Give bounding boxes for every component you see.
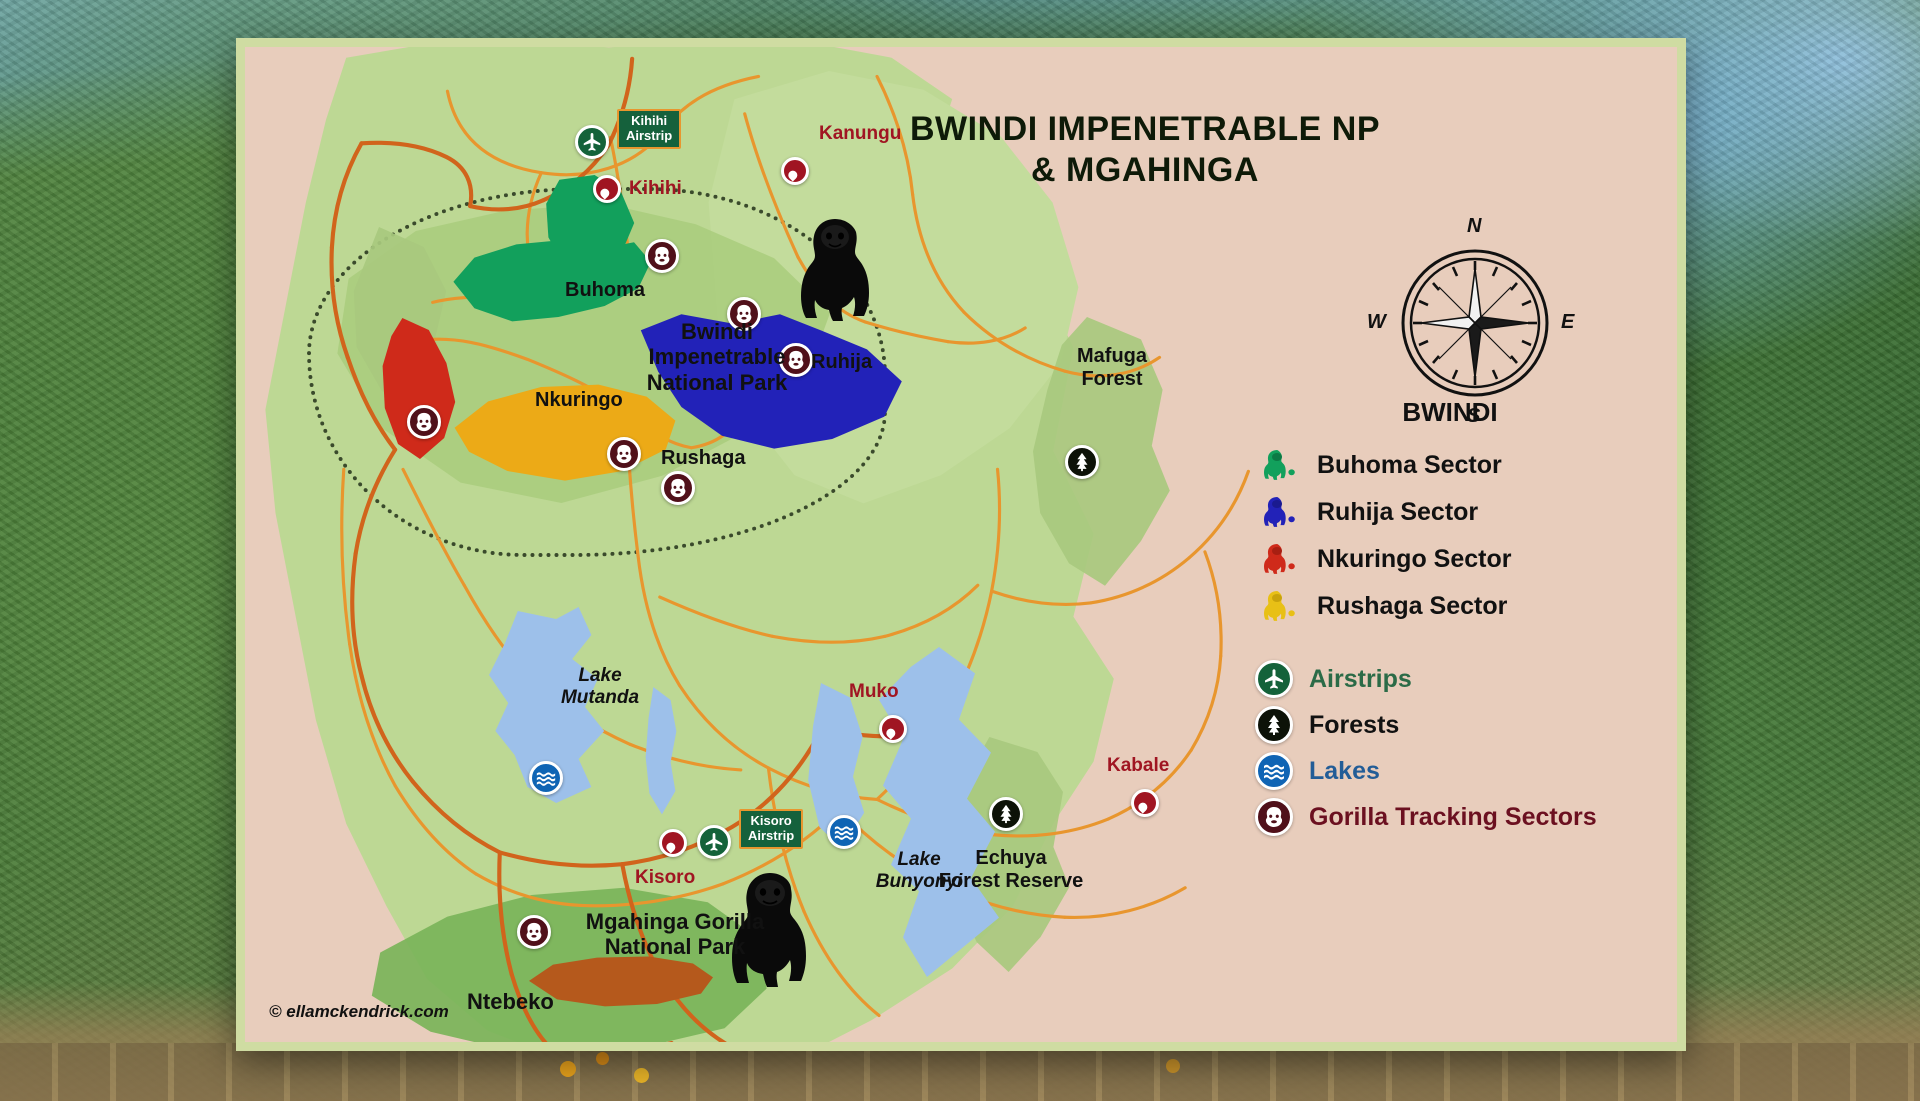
airplane-icon <box>703 831 725 853</box>
lake-label-mutanda: Lake Mutanda <box>545 665 655 709</box>
map-title-line1: BWINDI IMPENETRABLE NP <box>910 110 1380 148</box>
gorilla-head-icon <box>651 245 673 267</box>
gorilla-icon <box>1255 448 1301 484</box>
town-marker-kabale[interactable] <box>1131 789 1159 817</box>
gorilla-head-icon <box>413 411 435 433</box>
gorilla-head-icon <box>613 443 635 465</box>
gorilla-tracking-marker-rushaga-west[interactable] <box>607 437 641 471</box>
legend-label-gorilla-tracking-sectors: Gorilla Tracking Sectors <box>1309 803 1597 832</box>
park-label-line1: Mgahinga Gorilla <box>586 909 764 934</box>
town-marker-muko[interactable] <box>879 715 907 743</box>
town-label-muko: Muko <box>849 681 899 703</box>
town-label-kihihi: Kihihi <box>629 178 682 200</box>
airstrip-label-kihihi: Kihihi Airstrip <box>617 109 681 149</box>
airstrip-marker-kihihi[interactable] <box>575 125 609 159</box>
map-legend: BWINDI Buhoma Sector Ruhija Sector Nkuri… <box>1255 397 1675 840</box>
airplane-icon <box>581 131 603 153</box>
waves-icon <box>535 767 557 789</box>
airstrip-marker-kisoro[interactable] <box>697 825 731 859</box>
legend-item-buhoma-sector[interactable]: Buhoma Sector <box>1255 442 1675 489</box>
map-canvas: Kihihi Airstrip Kisoro Airstrip Kihihi K… <box>245 47 1677 1042</box>
map-title-line2: & MGAHINGA <box>1031 151 1259 189</box>
decorative-flower <box>634 1068 649 1083</box>
map-title: BWINDI IMPENETRABLE NP & MGAHINGA <box>885 109 1405 192</box>
park-label-line2: Impenetrable <box>649 344 786 369</box>
compass-rose: N S W E <box>1395 243 1555 403</box>
map-card: Kihihi Airstrip Kisoro Airstrip Kihihi K… <box>236 38 1686 1051</box>
airstrip-label-line1: Kihihi <box>631 113 667 128</box>
forest-marker-echuya[interactable] <box>989 797 1023 831</box>
legend-label-lakes: Lakes <box>1309 757 1380 786</box>
park-label-bwindi: Bwindi Impenetrable National Park <box>607 319 827 395</box>
town-marker-kihihi[interactable] <box>593 175 621 203</box>
airstrip-label-line1: Kisoro <box>751 813 792 828</box>
legend-item-forests[interactable]: Forests <box>1255 702 1675 748</box>
legend-label-ruhija-sector: Ruhija Sector <box>1317 498 1478 527</box>
legend-label-forests: Forests <box>1309 711 1399 740</box>
forest-label-line1: Mafuga <box>1077 345 1147 367</box>
lake-label-line1: Lake <box>897 849 940 870</box>
forest-label-line1: Echuya <box>975 847 1046 869</box>
legend-item-gorilla-tracking-sectors[interactable]: Gorilla Tracking Sectors <box>1255 794 1675 840</box>
town-label-kabale: Kabale <box>1107 755 1169 777</box>
compass-label-north: N <box>1467 215 1481 238</box>
forest-label-mafuga: Mafuga Forest <box>1057 345 1167 391</box>
gorilla-illustration-north <box>785 215 885 323</box>
sector-label-ntebeko: Ntebeko <box>467 989 554 1014</box>
decorative-flower <box>560 1061 576 1077</box>
legend-label-buhoma-sector: Buhoma Sector <box>1317 451 1502 480</box>
legend-item-rushaga-sector[interactable]: Rushaga Sector <box>1255 583 1675 630</box>
gorilla-icon <box>1255 542 1301 578</box>
gorilla-tracking-marker-nkuringo[interactable] <box>407 405 441 439</box>
legend-heading: BWINDI <box>1225 397 1675 428</box>
compass-icon <box>1395 243 1555 403</box>
lake-marker-bunyonyi[interactable] <box>827 815 861 849</box>
tree-icon <box>995 803 1017 825</box>
tree-icon <box>1255 706 1293 744</box>
legend-item-nkuringo-sector[interactable]: Nkuringo Sector <box>1255 536 1675 583</box>
decorative-flower <box>1166 1059 1180 1073</box>
park-label-line3: National Park <box>647 370 788 395</box>
compass-label-west: W <box>1367 311 1386 334</box>
legend-feature-group: Airstrips Forests Lakes Gorilla Tracking… <box>1255 656 1675 840</box>
sector-label-buhoma: Buhoma <box>565 279 645 302</box>
legend-label-airstrips: Airstrips <box>1309 665 1412 694</box>
gorilla-icon <box>1255 589 1301 625</box>
park-label-line1: Bwindi <box>681 319 753 344</box>
tree-icon <box>1071 451 1093 473</box>
lake-label-bunyonyi: Lake Bunyonyi <box>859 849 979 893</box>
sector-label-rushaga: Rushaga <box>661 447 745 470</box>
legend-item-lakes[interactable]: Lakes <box>1255 748 1675 794</box>
forest-marker-mafuga[interactable] <box>1065 445 1099 479</box>
waves-icon <box>833 821 855 843</box>
forest-label-line2: Forest <box>1081 368 1142 390</box>
gorilla-head-icon <box>1255 798 1293 836</box>
airstrip-label-line2: Airstrip <box>626 128 672 143</box>
town-label-kisoro: Kisoro <box>635 867 695 889</box>
airplane-icon <box>1255 660 1293 698</box>
gorilla-tracking-marker-rushaga[interactable] <box>661 471 695 505</box>
lake-label-line2: Mutanda <box>561 687 639 708</box>
legend-label-rushaga-sector: Rushaga Sector <box>1317 592 1507 621</box>
town-marker-kisoro[interactable] <box>659 829 687 857</box>
decorative-flower <box>596 1052 609 1065</box>
gorilla-tracking-marker-buhoma[interactable] <box>645 239 679 273</box>
airstrip-label-line2: Airstrip <box>748 828 794 843</box>
waves-icon <box>1255 752 1293 790</box>
legend-label-nkuringo-sector: Nkuringo Sector <box>1317 545 1511 574</box>
lake-label-line1: Lake <box>578 665 621 686</box>
town-marker-kanungu[interactable] <box>781 157 809 185</box>
lake-marker-mutanda[interactable] <box>529 761 563 795</box>
airstrip-label-kisoro: Kisoro Airstrip <box>739 809 803 849</box>
park-label-line2: National Park <box>605 934 746 959</box>
gorilla-head-icon <box>667 477 689 499</box>
legend-item-airstrips[interactable]: Airstrips <box>1255 656 1675 702</box>
park-label-mgahinga: Mgahinga Gorilla National Park <box>535 909 815 960</box>
compass-label-east: E <box>1561 311 1574 334</box>
lake-label-line2: Bunyonyi <box>876 871 963 892</box>
legend-item-ruhija-sector[interactable]: Ruhija Sector <box>1255 489 1675 536</box>
copyright-credit: © ellamckendrick.com <box>269 1002 449 1022</box>
gorilla-icon <box>1255 495 1301 531</box>
